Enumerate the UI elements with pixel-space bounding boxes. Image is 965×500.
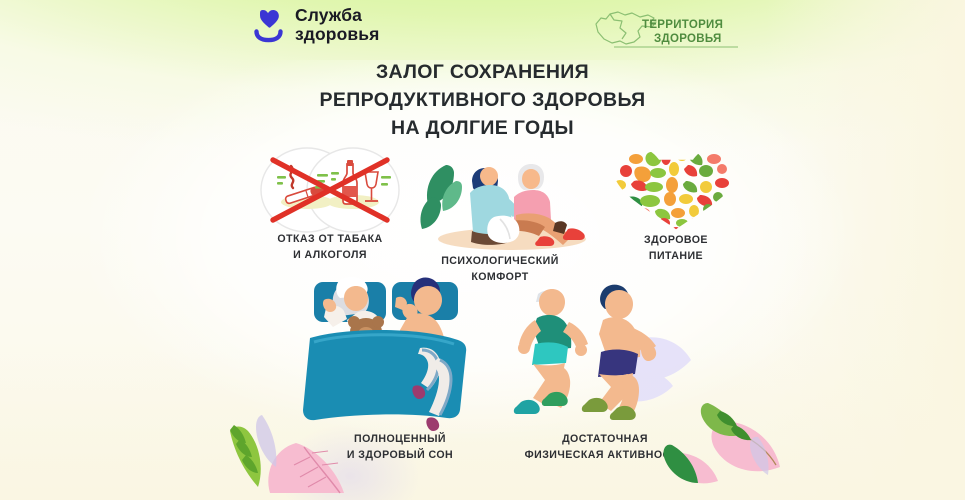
vegetable-heart-icon [596,145,756,233]
caption-line-2: И АЛКОГОЛЯ [245,248,415,264]
crossed-out-cigarette-and-alcohol-icon [255,146,405,234]
caption-line-1: ПСИХОЛОГИЧЕСКИЙ [400,254,600,270]
caption-line-1: ЗДОРОВОЕ [595,233,757,249]
poster-title: ЗАЛОГ СОХРАНЕНИЯ РЕПРОДУКТИВНОГО ЗДОРОВЬ… [0,58,965,142]
logo-left-line2: здоровья [295,24,379,44]
logo-sluzhba-zdorovya: Служба здоровья [252,6,379,44]
title-line-3: НА ДОЛГИЕ ГОДЫ [0,114,965,142]
caption-line-1: ОТКАЗ ОТ ТАБАКА [245,232,415,248]
fern-and-pink-leaf-decor-right [650,385,860,500]
logo-right-line2: ЗДОРОВЬЯ [654,33,722,45]
caption-healthy-nutrition: ЗДОРОВОЕ ПИТАНИЕ [595,233,757,265]
logo-right-line1: ТЕРРИТОРИЯ [642,19,723,31]
title-line-1: ЗАЛОГ СОХРАНЕНИЯ [0,58,965,86]
logo-left-wordmark: Служба здоровья [295,6,379,44]
heart-smile-icon [252,7,286,43]
caption-no-tobacco-alcohol: ОТКАЗ ОТ ТАБАКА И АЛКОГОЛЯ [245,232,415,264]
logo-left-line1: Служба [295,5,362,25]
title-line-2: РЕПРОДУКТИВНОГО ЗДОРОВЬЯ [0,86,965,114]
fern-and-pink-leaf-decor-left [200,385,400,500]
couple-relaxing-icon [412,143,592,253]
logo-territoriya-zdorovya: ТЕРРИТОРИЯ ЗДОРОВЬЯ [592,6,742,52]
infographic-poster: Служба здоровья ТЕРРИТОРИЯ ЗДОРОВЬЯ ЗАЛО… [0,0,965,500]
caption-line-2: ПИТАНИЕ [595,249,757,265]
